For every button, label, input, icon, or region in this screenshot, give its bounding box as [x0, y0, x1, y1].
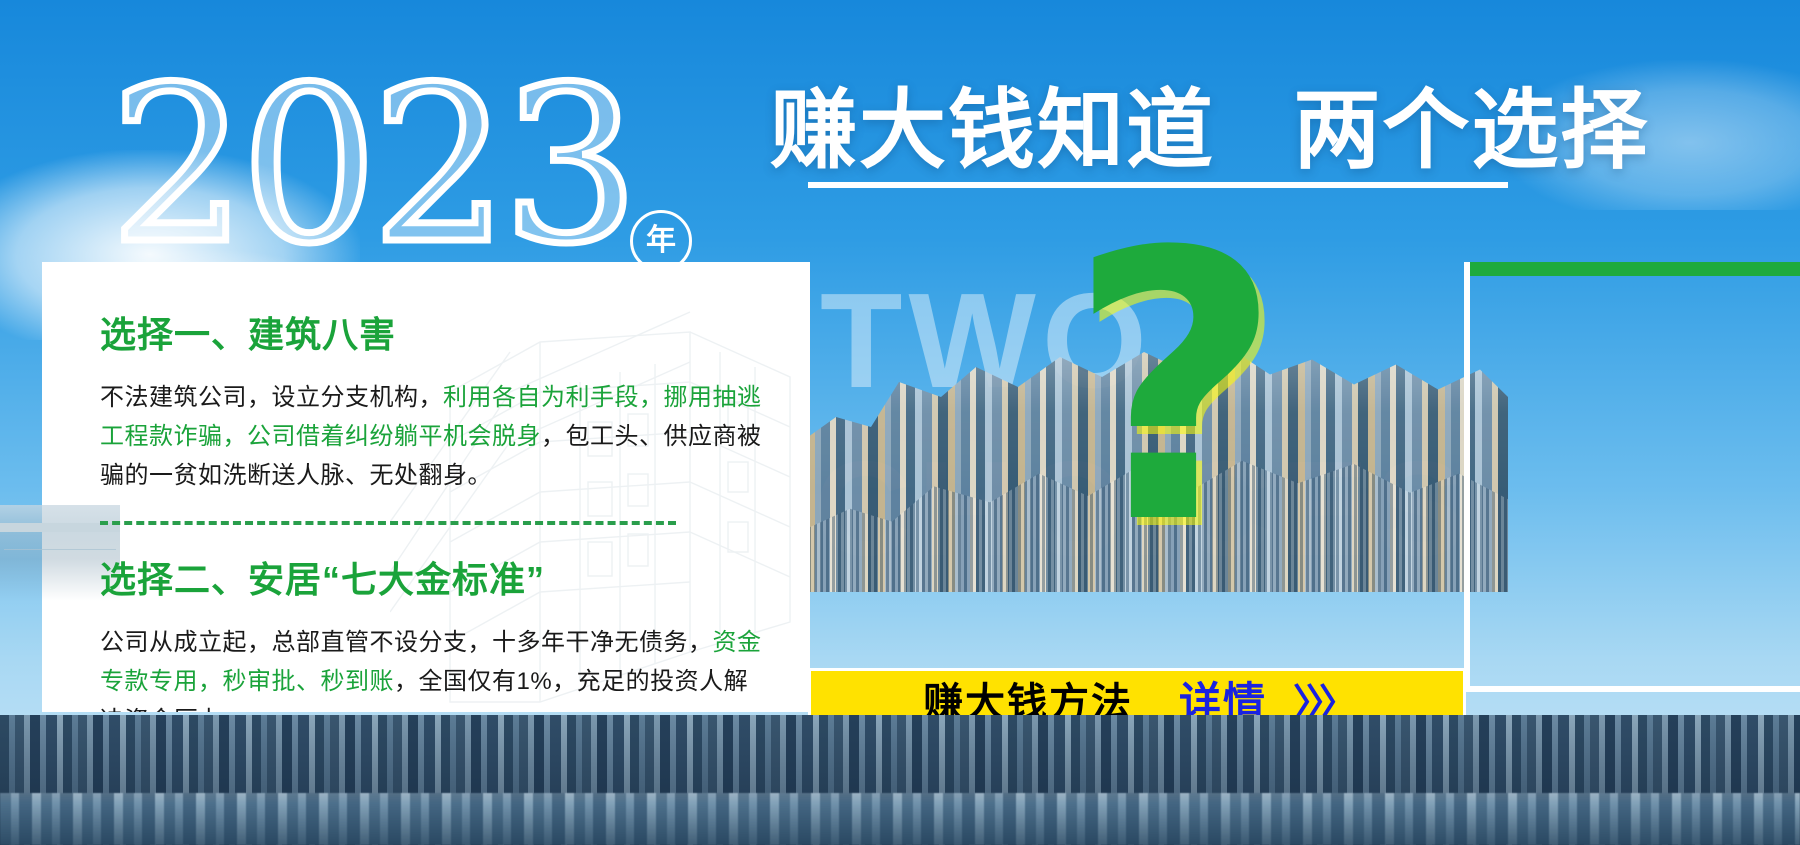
right-white-rule [1464, 262, 1470, 692]
section-title: 选择二、安居“七大金标准” [100, 551, 772, 603]
water-reflection [0, 793, 1800, 845]
section-body: 公司从成立起，总部直管不设分支，十多年干净无债务，资金专款专用，秒审批、秒到账，… [100, 623, 772, 712]
year-graphic: 2023 年 [110, 58, 750, 288]
section-title: 选择一、建筑八害 [100, 306, 772, 358]
promo-banner: 2023 年 赚大钱知道 两个选择 TWO CHOICES ? 赚大钱方法 详情… [0, 0, 1800, 845]
right-frame-rule [1464, 686, 1800, 692]
question-mark-icon: ? [1068, 205, 1283, 575]
headline-part-1: 赚大钱知道 [770, 82, 1215, 179]
section-divider [100, 521, 676, 525]
page-title: 赚大钱知道 两个选择 [770, 83, 1649, 179]
year-number: 2023 [110, 58, 750, 273]
body-run-plain: 公司从成立起，总部直管不设分支，十多年干净无债务， [100, 629, 713, 656]
hero-panel: TWO CHOICES ? [808, 185, 1508, 692]
card-body: 选择一、建筑八害 不法建筑公司，设立分支机构，利用各自为利手段，挪用抽逃工程款诈… [42, 262, 810, 712]
headline-part-2: 两个选择 [1293, 82, 1649, 179]
body-run-plain: 不法建筑公司，设立分支机构， [100, 384, 443, 411]
bottom-city-photo [0, 715, 1800, 845]
right-accent-bar [1468, 262, 1800, 276]
section-choice-one: 选择一、建筑八害 不法建筑公司，设立分支机构，利用各自为利手段，挪用抽逃工程款诈… [100, 306, 772, 495]
content-card: 选择一、建筑八害 不法建筑公司，设立分支机构，利用各自为利手段，挪用抽逃工程款诈… [42, 262, 810, 712]
section-choice-two: 选择二、安居“七大金标准” 公司从成立起，总部直管不设分支，十多年干净无债务，资… [100, 551, 772, 712]
section-body: 不法建筑公司，设立分支机构，利用各自为利手段，挪用抽逃工程款诈骗，公司借着纠纷躺… [100, 378, 772, 495]
